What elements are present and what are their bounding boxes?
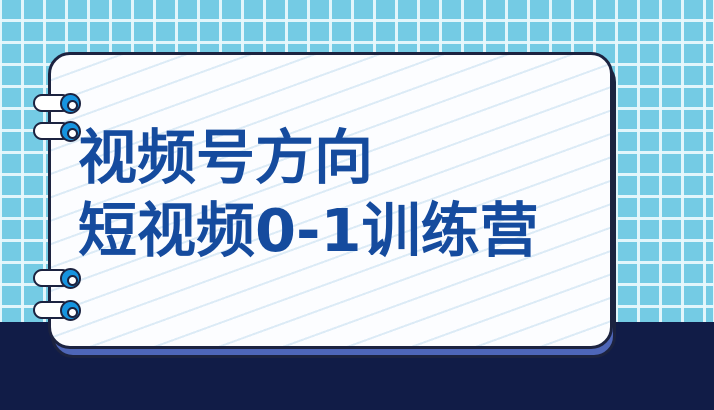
spiral-ring-3-hole [67, 275, 78, 286]
course-promo-poster: 视频号方向 短视频0-1训练营 [0, 0, 714, 410]
spiral-ring-1-donut [60, 93, 81, 114]
spiral-ring-3-icon [33, 268, 81, 289]
spiral-ring-2-donut [60, 121, 81, 142]
spiral-ring-4-icon [33, 300, 81, 321]
spiral-ring-4-hole [67, 307, 78, 318]
spiral-ring-2-hole [67, 128, 78, 139]
spiral-ring-2-icon [33, 121, 81, 142]
spiral-ring-4-donut [60, 300, 81, 321]
spiral-ring-3-donut [60, 268, 81, 289]
notebook-card [48, 52, 613, 349]
spiral-ring-1-icon [33, 93, 81, 114]
spiral-ring-1-hole [67, 100, 78, 111]
